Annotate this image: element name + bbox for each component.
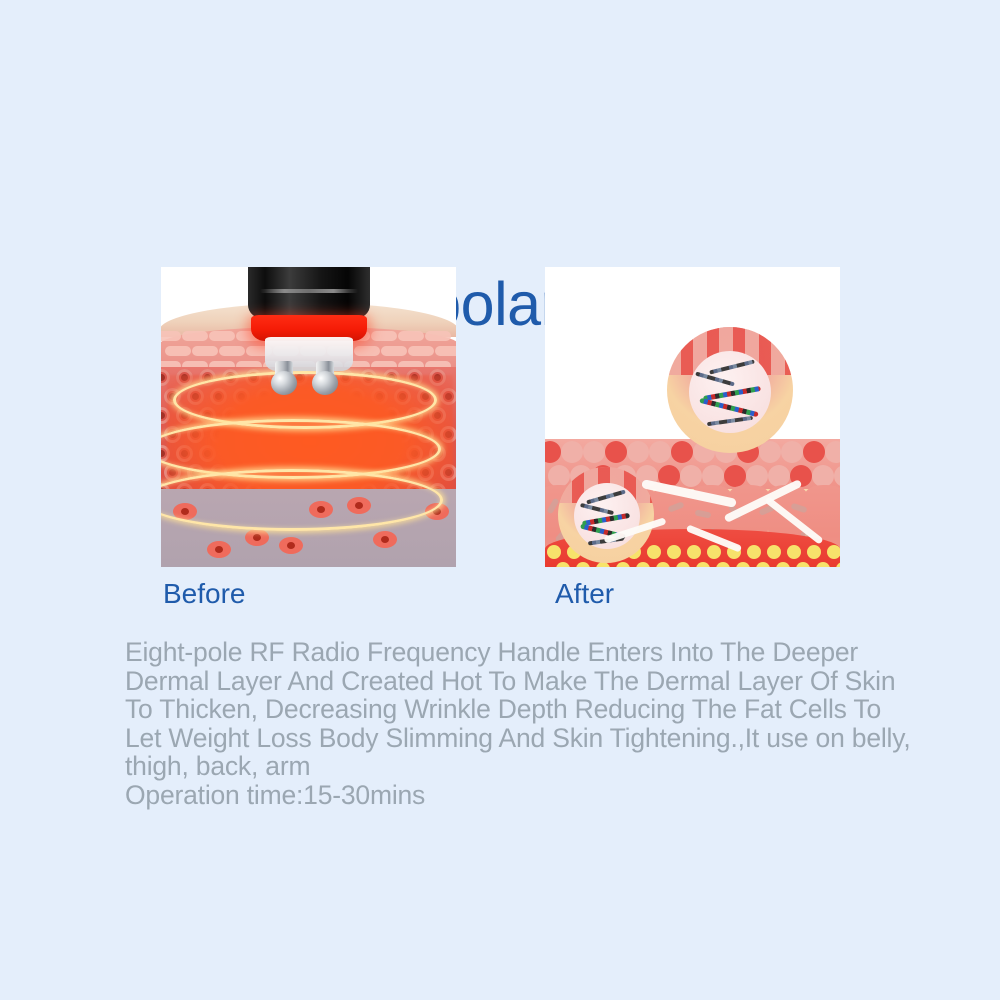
cell-nucleus bbox=[161, 412, 165, 419]
epidermis-cell bbox=[680, 465, 702, 487]
fat-cell bbox=[676, 562, 690, 567]
fat-cell bbox=[547, 545, 561, 559]
fat-cell bbox=[556, 562, 570, 567]
collagen-fiber-strand bbox=[580, 503, 614, 515]
before-image-panel bbox=[161, 267, 456, 567]
fat-cell bbox=[807, 545, 821, 559]
fat-cell bbox=[776, 562, 790, 567]
fat-cell bbox=[636, 562, 650, 567]
subcutaneous-fat-cell bbox=[245, 529, 269, 546]
fat-cell bbox=[767, 545, 781, 559]
epidermis-cell bbox=[671, 441, 693, 463]
fat-cell bbox=[687, 545, 701, 559]
fat-cell bbox=[656, 562, 670, 567]
fat-cell bbox=[827, 545, 840, 559]
epidermis-cell bbox=[649, 441, 671, 463]
epidermis-cell bbox=[605, 441, 627, 463]
before-illustration bbox=[161, 267, 456, 567]
collagen-fiber-strand bbox=[703, 386, 761, 401]
electrode-ball-left bbox=[271, 361, 297, 393]
cell-nucleus bbox=[287, 542, 295, 549]
fat-cell bbox=[696, 562, 710, 567]
subcutaneous-fat-cell bbox=[373, 531, 397, 548]
after-image-panel bbox=[545, 267, 840, 567]
epidermis-cell bbox=[702, 465, 724, 487]
fat-cell bbox=[667, 545, 681, 559]
epidermis-cell bbox=[803, 441, 825, 463]
handpiece-body bbox=[248, 267, 370, 319]
epidermis-cell bbox=[209, 331, 235, 341]
fat-cell bbox=[736, 562, 750, 567]
fat-cell bbox=[647, 545, 661, 559]
collagen-fiber-strand bbox=[709, 359, 755, 374]
collagen-magnifier-upper bbox=[667, 327, 793, 453]
cell-nucleus bbox=[253, 534, 261, 541]
fat-cell bbox=[707, 545, 721, 559]
fat-cell bbox=[787, 545, 801, 559]
epidermis-cell bbox=[381, 346, 407, 356]
epidermis-cell bbox=[165, 346, 191, 356]
fat-cell bbox=[747, 545, 761, 559]
epidermis-cell bbox=[192, 346, 218, 356]
magnifier-lens bbox=[689, 351, 771, 433]
fat-cell bbox=[756, 562, 770, 567]
epidermis-cell bbox=[627, 441, 649, 463]
epidermis-cell bbox=[435, 346, 456, 356]
epidermis-cell bbox=[583, 441, 605, 463]
fat-cell bbox=[616, 562, 630, 567]
epidermis-cell bbox=[561, 441, 583, 463]
epidermis-cell bbox=[834, 465, 840, 487]
after-illustration bbox=[545, 267, 840, 567]
cell-nucleus bbox=[215, 546, 223, 553]
cell-nucleus bbox=[161, 374, 165, 381]
epidermis-cell bbox=[425, 331, 451, 341]
electrode-sphere bbox=[312, 371, 338, 395]
handpiece-seam bbox=[260, 289, 358, 293]
collagen-magnifier-lower bbox=[558, 467, 654, 563]
epidermis-cell bbox=[408, 346, 434, 356]
collagen-fiber-strand bbox=[707, 416, 753, 426]
epidermis-cell bbox=[812, 465, 834, 487]
epidermis-cell bbox=[161, 331, 181, 341]
before-caption: Before bbox=[163, 578, 246, 610]
fat-cell bbox=[816, 562, 830, 567]
epidermis-cell bbox=[724, 465, 746, 487]
collagen-fiber-strand bbox=[582, 513, 630, 526]
product-description: Eight-pole RF Radio Frequency Handle Ent… bbox=[125, 638, 915, 809]
subcutaneous-fat-cell bbox=[279, 537, 303, 554]
rf-handpiece bbox=[234, 267, 384, 389]
fat-cell bbox=[836, 562, 840, 567]
electrode-sphere bbox=[271, 371, 297, 395]
epidermis-cell bbox=[182, 331, 208, 341]
epidermis-cell bbox=[545, 441, 561, 463]
fat-cell bbox=[796, 562, 810, 567]
page-header: 03 Bipolar RF bbox=[0, 130, 1000, 230]
epidermis-cell bbox=[398, 331, 424, 341]
after-caption: After bbox=[555, 578, 614, 610]
fat-cell bbox=[576, 562, 590, 567]
subcutaneous-fat-cell bbox=[207, 541, 231, 558]
collagen-fiber-strand bbox=[695, 372, 735, 387]
epidermis-cell bbox=[825, 441, 840, 463]
cell-nucleus bbox=[381, 536, 389, 543]
epidermis-cell bbox=[746, 465, 768, 487]
epidermis-cell bbox=[759, 441, 781, 463]
electrode-ball-right bbox=[312, 361, 338, 393]
collagen-fiber-strand bbox=[586, 490, 626, 505]
fat-cell bbox=[716, 562, 730, 567]
epidermis-cell bbox=[781, 441, 803, 463]
collagen-fiber-strand bbox=[699, 398, 758, 417]
